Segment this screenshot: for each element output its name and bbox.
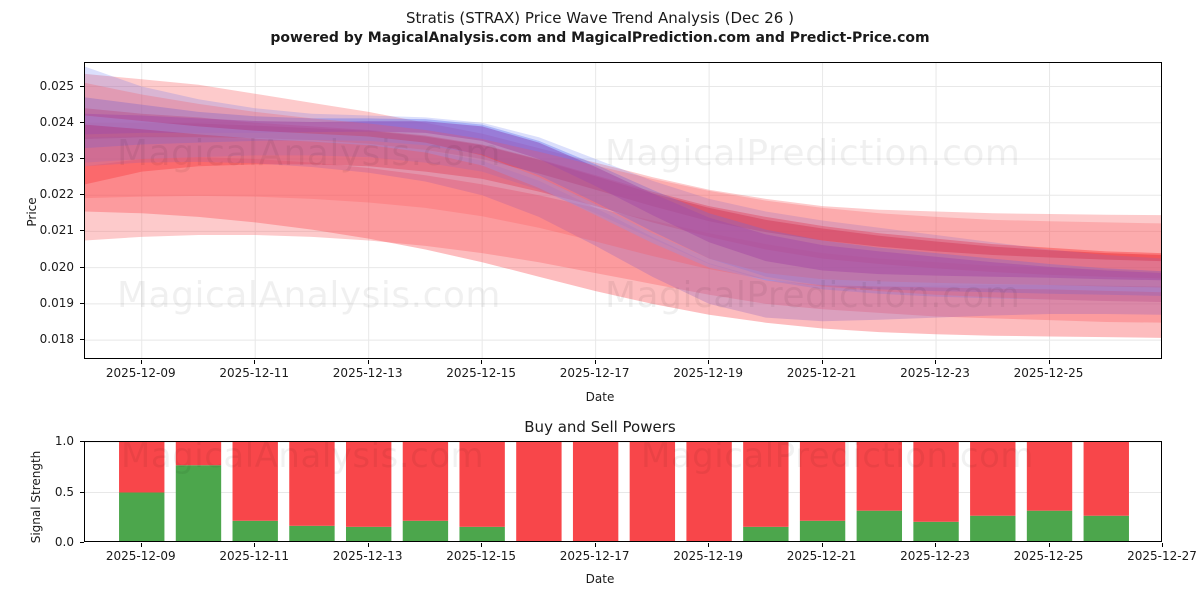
- top-x-tick-mark: [481, 360, 482, 364]
- bottom-x-tick-mark: [595, 543, 596, 547]
- bottom-y-tick-label: 0.5: [20, 485, 74, 499]
- page-title: Stratis (STRAX) Price Wave Trend Analysi…: [0, 8, 1200, 48]
- top-x-tick-label: 2025-12-21: [787, 366, 857, 380]
- sell-power-bar: [630, 442, 675, 542]
- bottom-y-tick-label: 0.0: [20, 535, 74, 549]
- bottom-x-tick-mark: [822, 543, 823, 547]
- bottom-x-tick-mark: [368, 543, 369, 547]
- top-y-tick-label: 0.019: [12, 296, 74, 310]
- buy-sell-powers-plot-area: MagicalAnalysis.com MagicalPrediction.co…: [84, 441, 1162, 542]
- buy-power-bar: [403, 521, 448, 542]
- buy-power-bar: [857, 511, 902, 542]
- main-title: Stratis (STRAX) Price Wave Trend Analysi…: [0, 8, 1200, 28]
- sell-power-bar: [233, 442, 278, 521]
- sell-power-bar: [573, 442, 618, 542]
- bottom-x-tick-mark: [1162, 543, 1163, 547]
- buy-power-bar: [289, 526, 334, 542]
- buy-power-bar: [119, 493, 164, 543]
- subtitle: powered by MagicalAnalysis.com and Magic…: [0, 28, 1200, 48]
- top-x-tick-label: 2025-12-09: [106, 366, 176, 380]
- sell-power-bar: [176, 442, 221, 465]
- bottom-x-tick-mark: [1049, 543, 1050, 547]
- bottom-x-tick-mark: [141, 543, 142, 547]
- sell-power-bar: [403, 442, 448, 521]
- top-y-tick-label: 0.024: [12, 115, 74, 129]
- sell-power-bar: [743, 442, 788, 527]
- chart-page: Stratis (STRAX) Price Wave Trend Analysi…: [0, 0, 1200, 600]
- top-y-tick-label: 0.020: [12, 260, 74, 274]
- price-wave-plot-area: MagicalAnalysis.com MagicalPrediction.co…: [84, 62, 1162, 359]
- bottom-chart-title: Buy and Sell Powers: [0, 418, 1200, 436]
- top-x-tick-label: 2025-12-15: [446, 366, 516, 380]
- top-y-tick-label: 0.021: [12, 223, 74, 237]
- top-x-tick-mark: [254, 360, 255, 364]
- buy-power-bar: [176, 465, 221, 542]
- sell-power-bar: [913, 442, 958, 522]
- top-chart-y-axis-label: Price: [25, 172, 39, 252]
- bottom-x-tick-label: 2025-12-21: [787, 549, 857, 563]
- sell-power-bar: [119, 442, 164, 493]
- bottom-x-tick-label: 2025-12-15: [446, 549, 516, 563]
- bottom-x-tick-label: 2025-12-27: [1127, 549, 1197, 563]
- bottom-y-tick-mark: [80, 542, 84, 543]
- bottom-x-tick-mark: [935, 543, 936, 547]
- buy-power-bar: [970, 516, 1015, 542]
- buy-power-bar: [233, 521, 278, 542]
- sell-power-bar: [289, 442, 334, 526]
- bottom-x-tick-label: 2025-12-11: [219, 549, 289, 563]
- sell-power-bar: [800, 442, 845, 521]
- bottom-x-tick-label: 2025-12-25: [1014, 549, 1084, 563]
- bottom-x-tick-mark: [481, 543, 482, 547]
- top-x-tick-mark: [708, 360, 709, 364]
- top-chart-x-axis-label: Date: [0, 390, 1200, 404]
- buy-power-bar: [1084, 516, 1129, 542]
- buy-power-bar: [346, 527, 391, 542]
- bottom-chart-x-axis-label: Date: [0, 572, 1200, 586]
- top-x-tick-mark: [935, 360, 936, 364]
- bottom-x-tick-label: 2025-12-13: [333, 549, 403, 563]
- bottom-x-tick-mark: [254, 543, 255, 547]
- top-x-tick-label: 2025-12-25: [1014, 366, 1084, 380]
- sell-power-bar: [857, 442, 902, 511]
- top-x-tick-mark: [1049, 360, 1050, 364]
- buy-power-bar: [1027, 511, 1072, 542]
- sell-power-bar: [1084, 442, 1129, 516]
- top-x-tick-mark: [141, 360, 142, 364]
- bottom-x-tick-label: 2025-12-17: [560, 549, 630, 563]
- top-x-tick-label: 2025-12-13: [333, 366, 403, 380]
- sell-power-bar: [516, 442, 561, 542]
- top-x-tick-mark: [595, 360, 596, 364]
- top-x-tick-mark: [822, 360, 823, 364]
- buy-power-bar: [459, 527, 504, 542]
- top-x-tick-mark: [368, 360, 369, 364]
- bottom-x-tick-label: 2025-12-19: [673, 549, 743, 563]
- top-y-tick-label: 0.023: [12, 151, 74, 165]
- top-x-tick-label: 2025-12-11: [219, 366, 289, 380]
- top-x-tick-label: 2025-12-17: [560, 366, 630, 380]
- top-x-tick-label: 2025-12-19: [673, 366, 743, 380]
- sell-power-bar: [459, 442, 504, 527]
- sell-power-bar: [346, 442, 391, 527]
- top-y-tick-label: 0.018: [12, 332, 74, 346]
- buy-power-bar: [800, 521, 845, 542]
- bottom-x-tick-mark: [708, 543, 709, 547]
- sell-power-bar: [970, 442, 1015, 516]
- bottom-x-tick-label: 2025-12-23: [900, 549, 970, 563]
- top-y-tick-label: 0.025: [12, 79, 74, 93]
- bottom-y-tick-label: 1.0: [20, 434, 74, 448]
- top-x-tick-label: 2025-12-23: [900, 366, 970, 380]
- sell-power-bar: [686, 442, 731, 542]
- buy-power-bar: [913, 522, 958, 542]
- buy-power-bar: [743, 527, 788, 542]
- top-y-tick-label: 0.022: [12, 187, 74, 201]
- sell-power-bar: [1027, 442, 1072, 511]
- bottom-x-tick-label: 2025-12-09: [106, 549, 176, 563]
